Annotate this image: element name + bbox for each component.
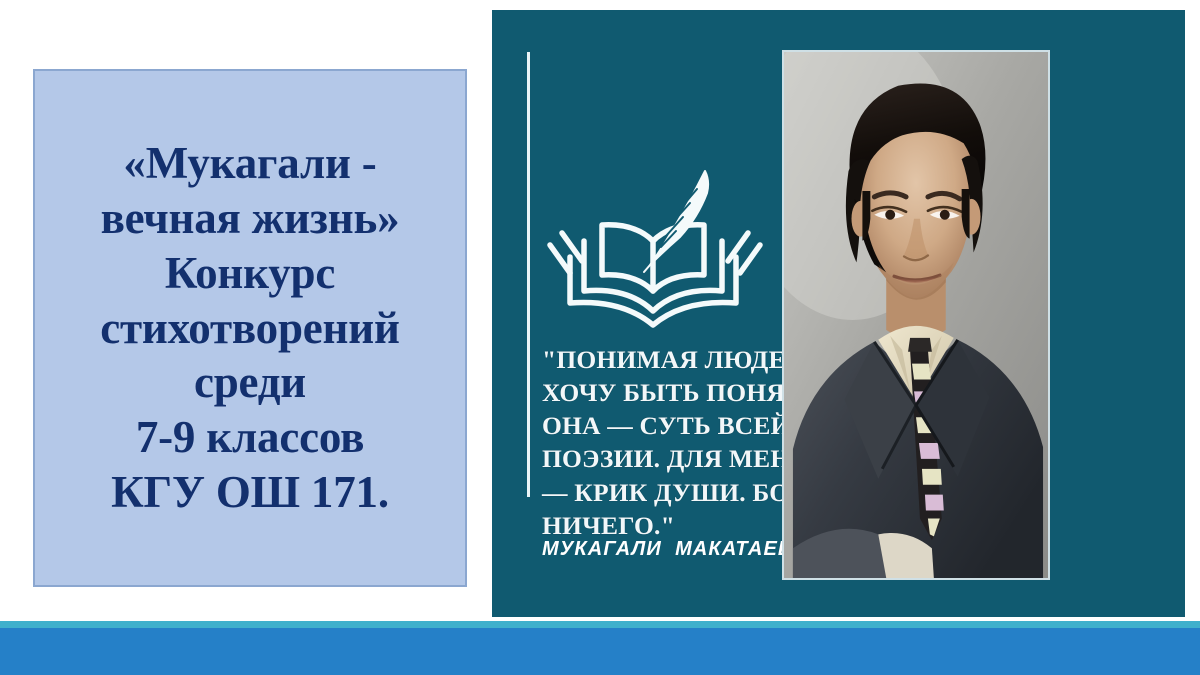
title-text-block: «Мукагали - вечная жизнь» Конкурс стихот… <box>35 136 465 520</box>
title-line-7: КГУ ОШ 171. <box>41 465 459 520</box>
presentation-slide: «Мукагали - вечная жизнь» Конкурс стихот… <box>0 0 1200 675</box>
title-line-6: 7-9 классов <box>41 410 459 465</box>
title-line-5: среди <box>41 355 459 410</box>
open-book-with-quill-icon <box>540 165 770 335</box>
title-card: «Мукагали - вечная жизнь» Конкурс стихот… <box>33 69 467 587</box>
portrait-photo <box>782 50 1050 580</box>
title-line-2: вечная жизнь» <box>41 191 459 246</box>
title-line-4: стихотворений <box>41 301 459 356</box>
bottom-accent-bar-blue <box>0 628 1200 675</box>
title-line-1: «Мукагали - <box>41 136 459 191</box>
bottom-accent-bar-cyan <box>0 621 1200 628</box>
quote-attribution: МУКАГАЛИ МАКАТАЕВ <box>542 538 793 561</box>
vertical-accent-rule <box>527 52 530 497</box>
title-line-3: Конкурс <box>41 246 459 301</box>
quote-panel: "ПОНИМАЯ ЛЮДЕЙ, САМ ХОЧУ БЫТЬ ПОНЯТЫМ. В… <box>492 10 1185 617</box>
